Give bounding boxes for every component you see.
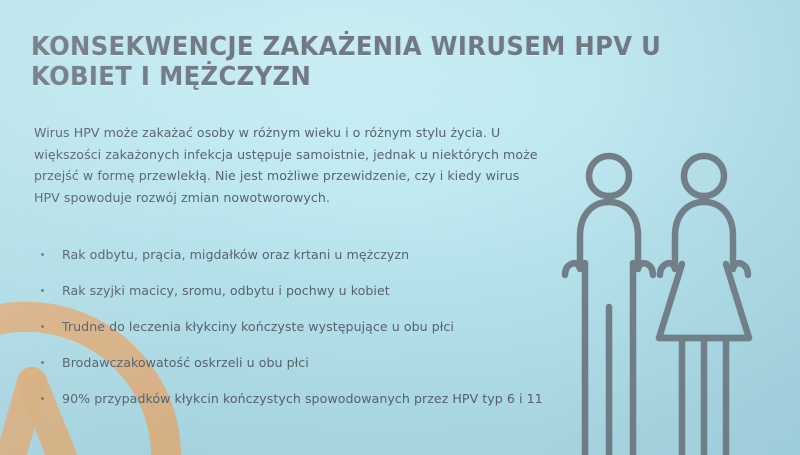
slide-title-line-2: KOBIET I MĘŻCZYZN [31, 62, 639, 92]
list-item-label: 90% przypadków kłykcin kończystych spowo… [62, 391, 543, 406]
slide-title-line-1: KONSEKWENCJE ZAKAŻENIA WIRUSEM HPV U [31, 32, 639, 62]
bullet-dot-icon [41, 289, 44, 292]
female-body-icon [660, 202, 748, 275]
list-item-label: Brodawczakowatość oskrzeli u obu płci [62, 355, 309, 370]
bullet-dot-icon [41, 253, 44, 256]
consequences-list: Rak odbytu, prącia, migdałków oraz krtan… [34, 244, 554, 424]
intro-paragraph-line-4: HPV spowoduje rozwój zmian nowotworowych… [34, 187, 504, 209]
bullet-dot-icon [41, 361, 44, 364]
male-body-icon [565, 202, 653, 275]
slide-title: KONSEKWENCJE ZAKAŻENIA WIRUSEM HPV U KOB… [31, 32, 639, 92]
list-item-label: Trudne do leczenia kłykciny kończyste wy… [62, 319, 454, 334]
list-item: Brodawczakowatość oskrzeli u obu płci [34, 352, 554, 388]
female-head-icon [684, 156, 724, 196]
list-item-label: Rak odbytu, prącia, migdałków oraz krtan… [62, 247, 409, 262]
intro-paragraph-line-1: Wirus HPV może zakażać osoby w różnym wi… [34, 122, 504, 144]
list-item: Rak szyjki macicy, sromu, odbytu i pochw… [34, 280, 554, 316]
intro-paragraph-line-2: większości zakażonych infekcja ustępuje … [34, 144, 504, 166]
bullet-dot-icon [41, 325, 44, 328]
list-item: Trudne do leczenia kłykciny kończyste wy… [34, 316, 554, 352]
intro-paragraph-line-3: przejść w formę przewlekłą. Nie jest moż… [34, 165, 504, 187]
female-skirt-icon [659, 264, 749, 338]
man-and-woman-icon [556, 152, 790, 455]
list-item-label: Rak szyjki macicy, sromu, odbytu i pochw… [62, 283, 390, 298]
list-item: Rak odbytu, prącia, migdałków oraz krtan… [34, 244, 554, 280]
male-head-icon [589, 156, 629, 196]
slide-canvas: KONSEKWENCJE ZAKAŻENIA WIRUSEM HPV U KOB… [0, 0, 800, 455]
bullet-dot-icon [41, 397, 44, 400]
intro-paragraph: Wirus HPV może zakażać osoby w różnym wi… [34, 122, 504, 208]
list-item: 90% przypadków kłykcin kończystych spowo… [34, 388, 554, 424]
